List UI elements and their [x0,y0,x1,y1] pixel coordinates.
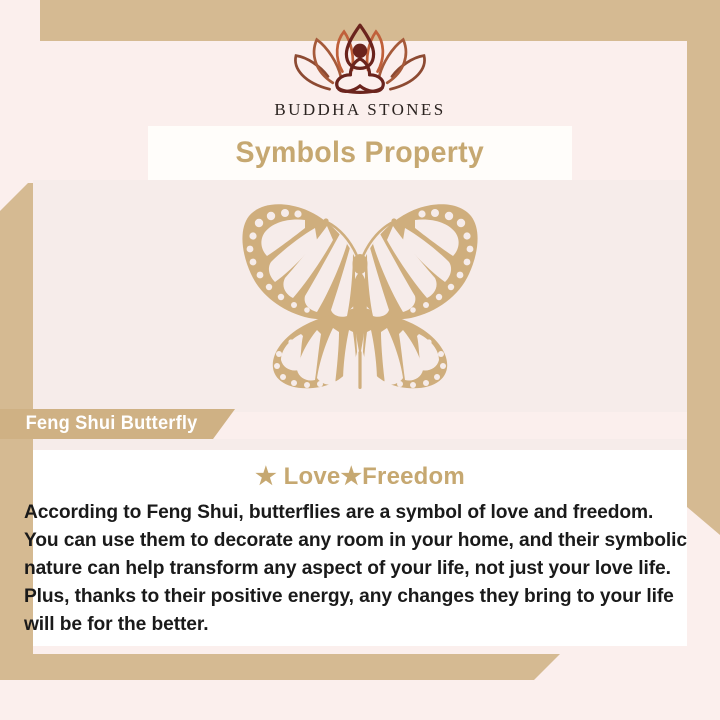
page-title: Symbols Property [236,136,484,170]
promo-graphic: BUDDHA STONES Symbols Property [0,0,720,720]
description-panel: ★ Love★Freedom According to Feng Shui, b… [33,450,687,646]
feature-ribbon: Feng Shui Butterfly [0,409,235,439]
panel-body-text: According to Feng Shui, butterflies are … [20,498,696,638]
brand-header: BUDDHA STONES [0,0,720,126]
section-title-band: Symbols Property [148,126,572,180]
panel-heading: ★ Love★Freedom [33,450,687,491]
brand-wordmark: BUDDHA STONES [274,100,445,120]
monarch-butterfly-icon [205,196,515,396]
lotus-meditation-icon [280,22,440,94]
ribbon-underline-strip [33,439,687,450]
hero-illustration-area [33,180,687,412]
feature-ribbon-label: Feng Shui Butterfly [26,413,198,435]
frame-bottom-bar [0,654,560,680]
